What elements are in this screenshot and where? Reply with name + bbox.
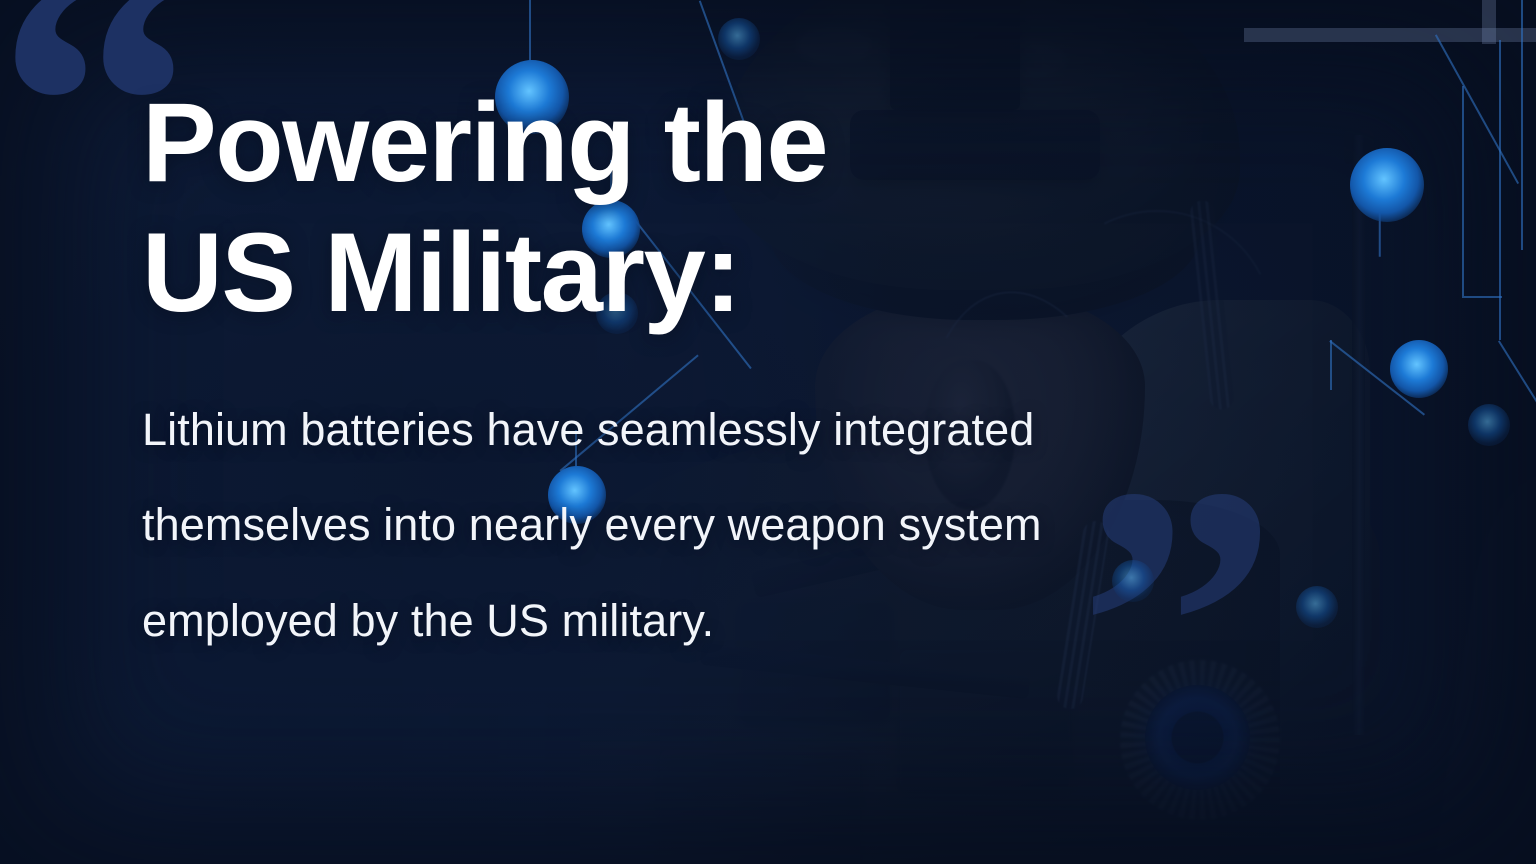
body-paragraph: Lithium batteries have seamlessly integr… <box>142 382 1202 668</box>
page-title: Powering the US Military: <box>142 78 827 338</box>
slide-canvas: “ ” Powe <box>0 0 1536 864</box>
text-content: Powering the US Military: Lithium batter… <box>142 0 1292 864</box>
